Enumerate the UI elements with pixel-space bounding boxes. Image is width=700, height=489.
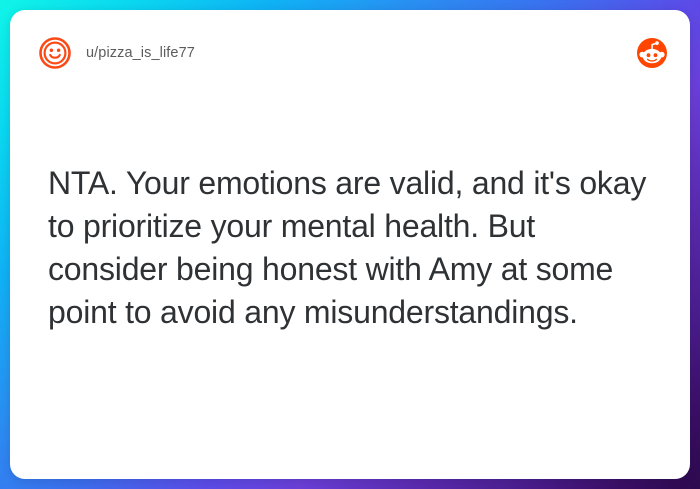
reddit-post-card: u/pizza_is_life77 [10,10,690,479]
avatar[interactable] [38,36,72,70]
gradient-background: u/pizza_is_life77 [0,0,700,489]
post-header: u/pizza_is_life77 [10,10,690,96]
post-body-text: NTA. Your emotions are valid, and it's o… [48,162,654,334]
username-label: u/pizza_is_life77 [86,45,195,61]
reddit-snoo-icon[interactable] [636,37,668,69]
